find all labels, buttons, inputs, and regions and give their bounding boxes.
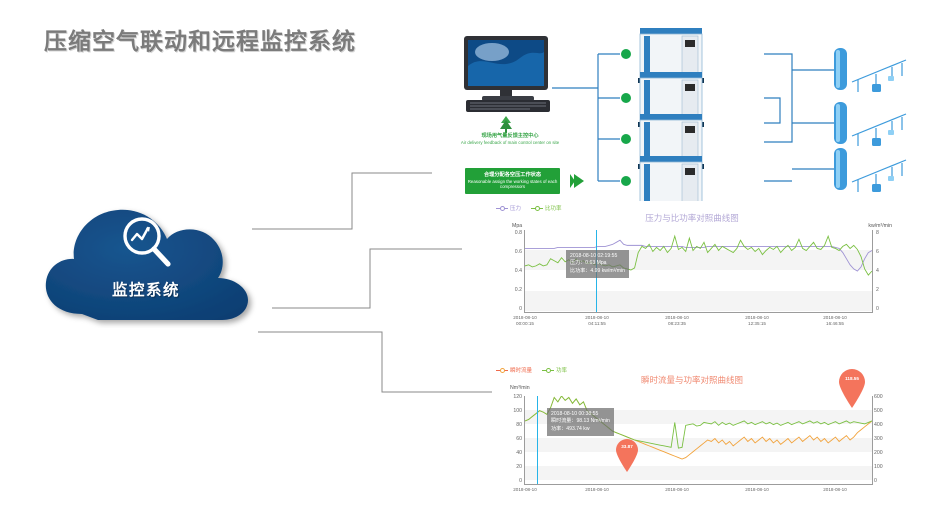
f-y2tick-4: 200 (874, 450, 892, 456)
flow-y-axis-unit: Nm³/min (510, 385, 530, 391)
y2tick-1: 6 (876, 249, 892, 255)
y2tick-3: 2 (876, 287, 892, 293)
f-y2tick-2: 400 (874, 422, 892, 428)
y2tick-2: 4 (876, 268, 892, 274)
y2tick-0: 8 (876, 230, 892, 236)
flow-marker-high-label: 118.55 (837, 376, 867, 381)
xtick-2-time: 08:23:35 (647, 321, 707, 327)
f-ytick-0: 120 (492, 394, 522, 400)
xtick-3: 2018-08-10 12:35:15 (727, 315, 787, 326)
legend-item-specific-power[interactable]: 比功率 (531, 204, 562, 212)
flow-power-chart-legend: 瞬时流量 功率 (496, 366, 567, 374)
legend-item-pressure[interactable]: 压力 (496, 204, 521, 212)
flow-power-chart-panel: 瞬时流量 功率 瞬时流量与功率对照曲线图 Nm³/min 120 100 80 … (492, 364, 892, 522)
f-ytick-6: 0 (492, 478, 522, 484)
pressure-plot-frame-right (872, 230, 873, 312)
xtick-4: 2018-08-10 16:46:55 (805, 315, 865, 326)
legend-label-power: 功率 (556, 366, 567, 374)
pressure-chart-legend: 压力 比功率 (496, 204, 562, 212)
slide-canvas: 压缩空气联动和远程监控系统 (0, 0, 945, 529)
flow-power-chart-title: 瞬时流量与功率对照曲线图 (492, 374, 892, 386)
ytick-2: 0.4 (492, 268, 522, 274)
compressor-node-group (621, 49, 631, 186)
ytick-4: 0 (492, 306, 522, 312)
flow-tooltip-row-flow: 瞬时流量：98.13 Nm³/min (551, 418, 610, 425)
xtick-4-time: 16:46:55 (805, 321, 865, 327)
f-y2tick-3: 300 (874, 436, 892, 442)
f-y2tick-5: 100 (874, 464, 892, 470)
pressure-chart-panel: 压力 比功率 压力与比功率对照曲线图 Mpa kw/m³/min 0.8 0.6… (492, 202, 892, 338)
xtick-1: 2018-08-10 04:11:55 (567, 315, 627, 326)
ytick-0: 0.8 (492, 230, 522, 236)
pressure-chart-title: 压力与比功率对照曲线图 (492, 212, 892, 224)
tooltip-row-pressure: 压力：0.63 Mpa (570, 260, 625, 267)
legend-item-flow[interactable]: 瞬时流量 (496, 366, 532, 374)
xtick-0-time: 00:00:15 (495, 321, 555, 327)
pressure-y-axis-unit: Mpa (512, 223, 522, 229)
f-xtick-1: 2018-08-10 (567, 487, 627, 493)
f-xtick-0: 2018-08-10 (495, 487, 555, 493)
pressure-y2-axis-unit: kw/m³/min (868, 223, 892, 229)
xtick-2: 2018-08-10 08:23:35 (647, 315, 707, 326)
cloud-label: 监控系统 (38, 278, 254, 300)
y2tick-4: 0 (876, 306, 892, 312)
f-y2tick-6: 0 (874, 478, 892, 484)
flow-marker-low-label: 33.87 (614, 444, 640, 449)
f-y2tick-0: 600 (874, 394, 892, 400)
tooltip-row-specific-power: 比功率：4.99 kw/m³/min (570, 268, 625, 275)
legend-label-flow: 瞬时流量 (510, 366, 532, 374)
legend-label-pressure: 压力 (510, 204, 521, 212)
tree-icon (498, 116, 514, 134)
compressed-air-system-diagram: 现场用气量反馈主控中心 Air delivery feedback of mai… (432, 16, 942, 206)
legend-label-specific-power: 比功率 (545, 204, 562, 212)
f-ytick-2: 80 (492, 422, 522, 428)
magnifier-chart-icon (116, 212, 178, 274)
f-ytick-3: 60 (492, 436, 522, 442)
f-ytick-1: 100 (492, 408, 522, 414)
xtick-1-time: 04:11:55 (567, 321, 627, 327)
flow-power-chart-tooltip: 2018-08-10 00:38:55 瞬时流量：98.13 Nm³/min 功… (547, 408, 614, 436)
legend-item-power[interactable]: 功率 (542, 366, 567, 374)
f-ytick-5: 20 (492, 464, 522, 470)
f-ytick-4: 40 (492, 450, 522, 456)
f-xtick-4: 2018-08-10 (805, 487, 865, 493)
f-y2tick-1: 500 (874, 408, 892, 414)
flow-tooltip-row-power: 功率：493.74 kw (551, 426, 610, 433)
page-title: 压缩空气联动和远程监控系统 (44, 22, 356, 56)
assign-status-en: Reasonable assign the working states of … (465, 179, 560, 189)
monitoring-cloud[interactable]: 监控系统 (38, 196, 290, 328)
flow-plot-frame-right (872, 396, 873, 484)
f-xtick-2: 2018-08-10 (647, 487, 707, 493)
ytick-1: 0.6 (492, 249, 522, 255)
flow-cursor-line (537, 396, 538, 484)
assign-status-box: 合理分配各空压工作状态 Reasonable assign the workin… (465, 168, 560, 194)
xtick-0: 2018-08-10 00:00:15 (495, 315, 555, 326)
f-xtick-3: 2018-08-10 (727, 487, 787, 493)
flow-marker-high[interactable]: 118.55 (837, 368, 867, 408)
monitor-icon (460, 34, 556, 116)
xtick-3-time: 12:35:15 (727, 321, 787, 327)
flow-marker-low[interactable]: 33.87 (614, 438, 640, 472)
ytick-3: 0.2 (492, 287, 522, 293)
pressure-chart-tooltip: 2018-08-10 02:19:55 压力：0.63 Mpa 比功率：4.99… (566, 250, 629, 278)
piping-network (552, 26, 942, 201)
storage-tank-group (834, 48, 906, 192)
compressor-units (638, 28, 704, 201)
